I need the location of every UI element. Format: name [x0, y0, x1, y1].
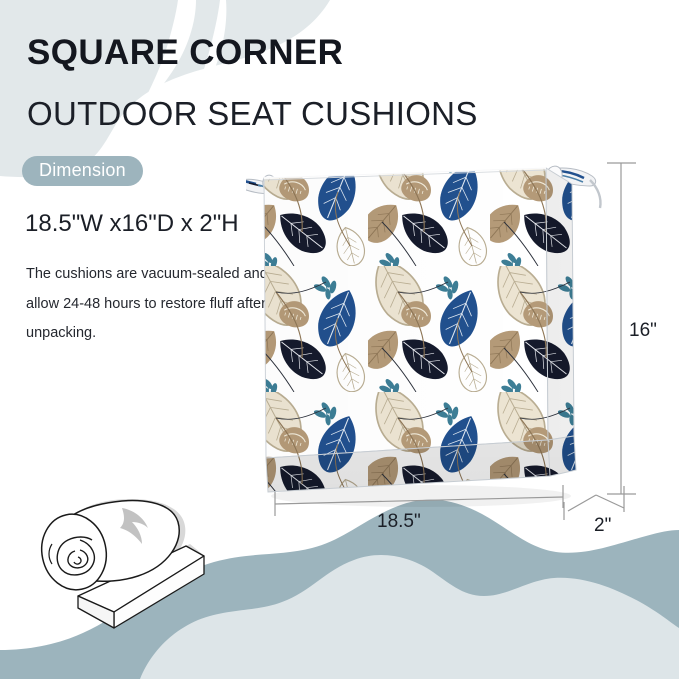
- product-infographic: SQUARE CORNER OUTDOOR SEAT CUSHIONS Dime…: [0, 0, 679, 679]
- page-title: SQUARE CORNER: [27, 33, 343, 73]
- height-measurement-label: 16": [629, 320, 657, 342]
- page-subtitle: OUTDOOR SEAT CUSHIONS: [27, 95, 478, 133]
- foam-roll-illustration: [18, 478, 258, 643]
- cushion-product-image: [246, 140, 626, 520]
- care-note-text: The cushions are vacuum-sealed and allow…: [26, 260, 276, 349]
- dimension-spec-text: 18.5"W x16"D x 2"H: [25, 210, 239, 238]
- dimension-badge: Dimension: [22, 156, 143, 186]
